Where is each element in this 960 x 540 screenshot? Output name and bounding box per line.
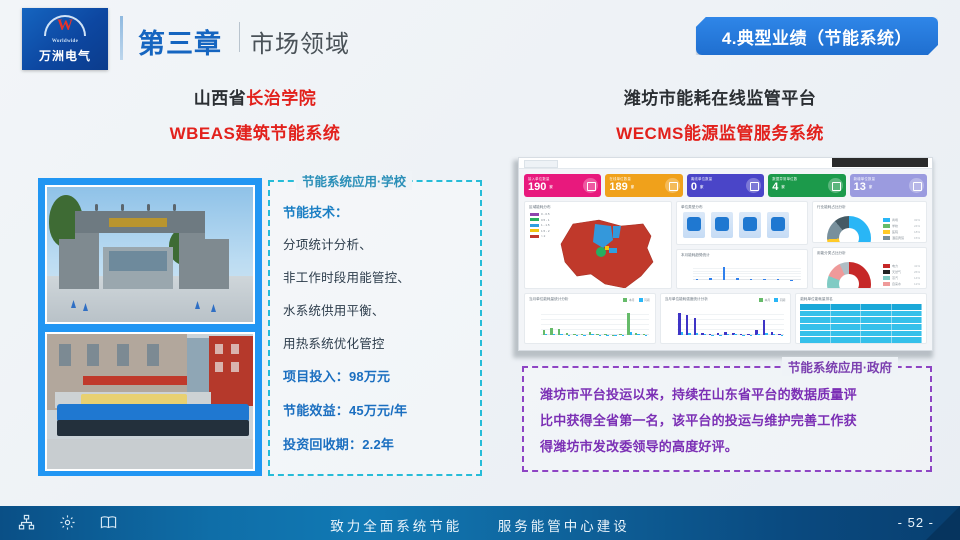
kpi-card-unit: 家 bbox=[700, 181, 703, 193]
kpi-card-unit: 家 bbox=[781, 181, 784, 193]
tech-item: 分项统计分析、 bbox=[283, 234, 468, 253]
legend-item: 学校24% bbox=[883, 224, 920, 228]
kpi-saving: 节能效益：45万元/年 bbox=[283, 400, 468, 419]
table-header-row bbox=[800, 304, 922, 310]
industry-donut-panel: 行业能耗占比分析 商场32%学校24%医院18%酒店宾馆15%其他11% bbox=[812, 201, 927, 243]
legend-item: 本月 bbox=[759, 298, 770, 302]
company-logo: W Worldwide 万洲电气 bbox=[22, 8, 108, 70]
section-title: 市场领域 bbox=[250, 24, 350, 59]
bar bbox=[568, 335, 571, 336]
left-info-legend: 节能系统应用·学校 bbox=[296, 171, 412, 190]
bar bbox=[742, 335, 745, 336]
bar bbox=[719, 335, 722, 336]
legend-item: 商场32% bbox=[883, 218, 920, 222]
table-row bbox=[800, 324, 922, 330]
legend-item: 电力41% bbox=[883, 264, 920, 268]
legend-item: 其他11% bbox=[883, 242, 920, 243]
campus-gate-photo bbox=[45, 185, 255, 324]
bar bbox=[630, 332, 633, 336]
industry-donut-chart bbox=[827, 216, 871, 243]
tech-item: 非工作时段用能管控、 bbox=[283, 267, 468, 286]
annual-bar-legend: 本月同期 bbox=[759, 298, 785, 302]
energy-tech-heading: 节能技术： bbox=[283, 202, 468, 221]
bar bbox=[637, 334, 640, 335]
bar bbox=[688, 333, 691, 336]
legend-item: 同期 bbox=[639, 298, 650, 302]
bar bbox=[591, 334, 594, 335]
topic-badge: 4.典型业绩（节能系统） bbox=[696, 17, 938, 55]
kpi-card: 离线单位数量0家 bbox=[687, 174, 764, 197]
right-info-legend: 节能系统应用·政府 bbox=[782, 357, 898, 376]
bar bbox=[545, 334, 548, 335]
map-legend-item: 1 - 1.5 bbox=[530, 223, 550, 227]
footer-corner-accent bbox=[926, 506, 960, 540]
kpi-card: 在线单位数量189家 bbox=[605, 174, 682, 197]
logo-company-name: 万洲电气 bbox=[39, 47, 91, 64]
dashboard-bottom-row: 当月单位能耗量统计分析 本月同期 当月单位能耗强度统计分析 本月同期 能耗单位能… bbox=[519, 289, 932, 349]
bar bbox=[781, 335, 784, 336]
dashboard-middle-row: 区域能耗分布 0 - 0.50.5 - 11 - 1.51.5 - 2> 2 单… bbox=[519, 197, 932, 289]
industry-donut-legend: 商场32%学校24%医院18%酒店宾馆15%其他11% bbox=[883, 218, 920, 243]
legend-item: 同期 bbox=[774, 298, 785, 302]
monthly-usage-bar: 当月单位能耗量统计分析 本月同期 bbox=[524, 293, 656, 344]
slide-header: W Worldwide 万洲电气 第三章 市场领域 4.典型业绩（节能系统） bbox=[0, 0, 960, 76]
chapter-separator bbox=[239, 22, 240, 52]
dashboard-titlebar bbox=[832, 158, 928, 167]
tech-item: 用热系统优化管控 bbox=[283, 333, 468, 352]
table-row bbox=[800, 337, 922, 343]
bar bbox=[704, 334, 707, 335]
gov-paragraph-line: 得潍坊市发改委领导的高度好评。 bbox=[540, 434, 914, 460]
dashboard-kpi-row: 接入单位数量190家在线单位数量189家离线单位数量0家数据异常单位数4家新增单… bbox=[519, 169, 932, 197]
unit-type-panel: 单位类型分布 bbox=[676, 201, 808, 245]
dashboard-column-3: 行业能耗占比分析 商场32%学校24%医院18%酒店宾馆15%其他11% 用能分… bbox=[812, 201, 927, 289]
ranking-table: 能耗单位能耗量排名 bbox=[795, 293, 927, 344]
bar bbox=[599, 335, 602, 336]
ranking-table-body bbox=[800, 304, 922, 344]
industry-donut-title: 行业能耗占比分析 bbox=[813, 202, 926, 210]
chapter-label: 第三章 bbox=[138, 22, 222, 61]
left-column-title: 山西省长治学院 WBEAS建筑节能系统 bbox=[85, 84, 425, 144]
bar bbox=[736, 278, 739, 280]
unit-type-title: 单位类型分布 bbox=[677, 202, 807, 210]
legend-item: 本月 bbox=[623, 298, 634, 302]
monthly-bar-legend: 本月同期 bbox=[623, 298, 649, 302]
region-map-icon bbox=[555, 218, 663, 289]
gov-paragraph-line: 比中获得全省第一名，该平台的投运与维护完善工作获 bbox=[540, 408, 914, 434]
map-legend-item: 1.5 - 2 bbox=[530, 229, 550, 233]
logo-subtitle: Worldwide bbox=[52, 39, 78, 44]
check-icon bbox=[909, 178, 924, 193]
left-title-subtitle: WBEAS建筑节能系统 bbox=[85, 119, 425, 144]
category-donut-title: 用能分类占比分析 bbox=[813, 248, 926, 256]
map-legend-item: > 2 bbox=[530, 234, 550, 238]
monthly-usage-chart bbox=[541, 310, 649, 335]
right-title-subtitle: WECMS能源监管服务系统 bbox=[520, 119, 920, 144]
kpi-card: 接入单位数量190家 bbox=[524, 174, 601, 197]
right-column-title: 潍坊市能耗在线监管平台 WECMS能源监管服务系统 bbox=[520, 84, 920, 144]
bar bbox=[734, 334, 737, 335]
map-legend: 0 - 0.50.5 - 11 - 1.51.5 - 2> 2 bbox=[530, 212, 550, 240]
kpi-card: 新增单位数量13家 bbox=[850, 174, 927, 197]
annual-usage-bar: 当月单位能耗强度统计分析 本月同期 bbox=[660, 293, 792, 344]
annual-usage-chart bbox=[677, 310, 785, 335]
legend-item: 蒸汽14% bbox=[883, 276, 920, 280]
category-donut-panel: 用能分类占比分析 电力41%天然气26%蒸汽14%自来水12%其他7% bbox=[812, 247, 927, 289]
slide-footer: 致力全面系统节能 服务能管中心建设 - 52 - bbox=[0, 506, 960, 540]
tech-item: 水系统供用平衡、 bbox=[283, 300, 468, 319]
legend-item: 其他7% bbox=[883, 288, 920, 289]
footer-slogan-right: 服务能管中心建设 bbox=[498, 519, 630, 534]
kpi-card: 数据异常单位数4家 bbox=[768, 174, 845, 197]
category-donut-legend: 电力41%天然气26%蒸汽14%自来水12%其他7% bbox=[883, 264, 920, 289]
photo-frame bbox=[38, 178, 262, 476]
kpi-investment: 项目投入：98万元 bbox=[283, 366, 468, 385]
header-divider bbox=[120, 16, 123, 60]
map-panel: 区域能耗分布 0 - 0.50.5 - 11 - 1.51.5 - 2> 2 bbox=[524, 201, 672, 289]
legend-item: 医院18% bbox=[883, 230, 920, 234]
right-info-box: 节能系统应用·政府 潍坊市平台投运以来，持续在山东省平台的数据质量评 比中获得全… bbox=[522, 366, 932, 472]
legend-item: 酒店宾馆15% bbox=[883, 236, 920, 240]
bar bbox=[709, 278, 712, 280]
bar bbox=[777, 279, 780, 280]
kpi-card-unit: 家 bbox=[869, 181, 872, 193]
right-title-main: 潍坊市能耗在线监管平台 bbox=[520, 84, 920, 109]
legend-item: 天然气26% bbox=[883, 270, 920, 274]
map-legend-item: 0 - 0.5 bbox=[530, 212, 550, 216]
bar bbox=[696, 333, 699, 335]
ranking-table-title: 能耗单位能耗量排名 bbox=[796, 294, 926, 302]
dashboard-topbar bbox=[519, 158, 932, 169]
gauge-icon bbox=[665, 178, 680, 193]
table-row bbox=[800, 317, 922, 323]
bar bbox=[750, 335, 753, 336]
map-panel-title: 区域能耗分布 bbox=[525, 202, 671, 210]
bar bbox=[773, 334, 776, 335]
energy-trend-panel: 本月能耗趋势统计 bbox=[676, 249, 808, 289]
kpi-payback: 投资回收期：2.2年 bbox=[283, 434, 468, 453]
bar bbox=[763, 279, 766, 280]
bar bbox=[622, 335, 625, 336]
bar bbox=[711, 335, 714, 336]
bar bbox=[560, 334, 563, 335]
dashboard-screenshot: 接入单位数量190家在线单位数量189家离线单位数量0家数据异常单位数4家新增单… bbox=[518, 157, 933, 351]
bar bbox=[696, 279, 699, 280]
ceremony-photo bbox=[45, 332, 255, 471]
category-donut-chart bbox=[827, 262, 871, 289]
kpi-card-unit: 家 bbox=[549, 181, 552, 193]
bar bbox=[727, 334, 730, 335]
kpi-card-unit: 家 bbox=[631, 181, 634, 193]
dashboard-tab bbox=[524, 160, 558, 168]
table-row bbox=[800, 331, 922, 337]
logo-emblem-icon: W bbox=[44, 15, 86, 37]
bar bbox=[765, 333, 768, 336]
legend-item: 自来水12% bbox=[883, 282, 920, 286]
left-title-highlight: 长治学院 bbox=[246, 89, 316, 108]
bar bbox=[750, 279, 753, 280]
logo-letter: W bbox=[44, 17, 86, 35]
bar bbox=[723, 267, 726, 280]
bar bbox=[681, 332, 684, 335]
energy-trend-title: 本月能耗趋势统计 bbox=[677, 250, 807, 258]
left-info-box: 节能系统应用·学校 节能技术： 分项统计分析、 非工作时段用能管控、 水系统供用… bbox=[268, 180, 482, 476]
map-legend-item: 0.5 - 1 bbox=[530, 218, 550, 222]
left-title-prefix: 山西省 bbox=[194, 89, 247, 108]
energy-trend-chart bbox=[693, 266, 801, 280]
dashboard-column-2: 单位类型分布 本月能耗趋势统计 bbox=[676, 201, 808, 289]
footer-slogan: 致力全面系统节能 服务能管中心建设 bbox=[0, 515, 960, 535]
table-row bbox=[800, 311, 922, 317]
gov-paragraph-line: 潍坊市平台投运以来，持续在山东省平台的数据质量评 bbox=[540, 382, 914, 408]
bar bbox=[553, 334, 556, 335]
bar bbox=[757, 334, 760, 335]
footer-slogan-left: 致力全面系统节能 bbox=[330, 519, 462, 534]
topic-badge-label: 4.典型业绩（节能系统） bbox=[722, 24, 912, 49]
bars-icon bbox=[828, 178, 843, 193]
